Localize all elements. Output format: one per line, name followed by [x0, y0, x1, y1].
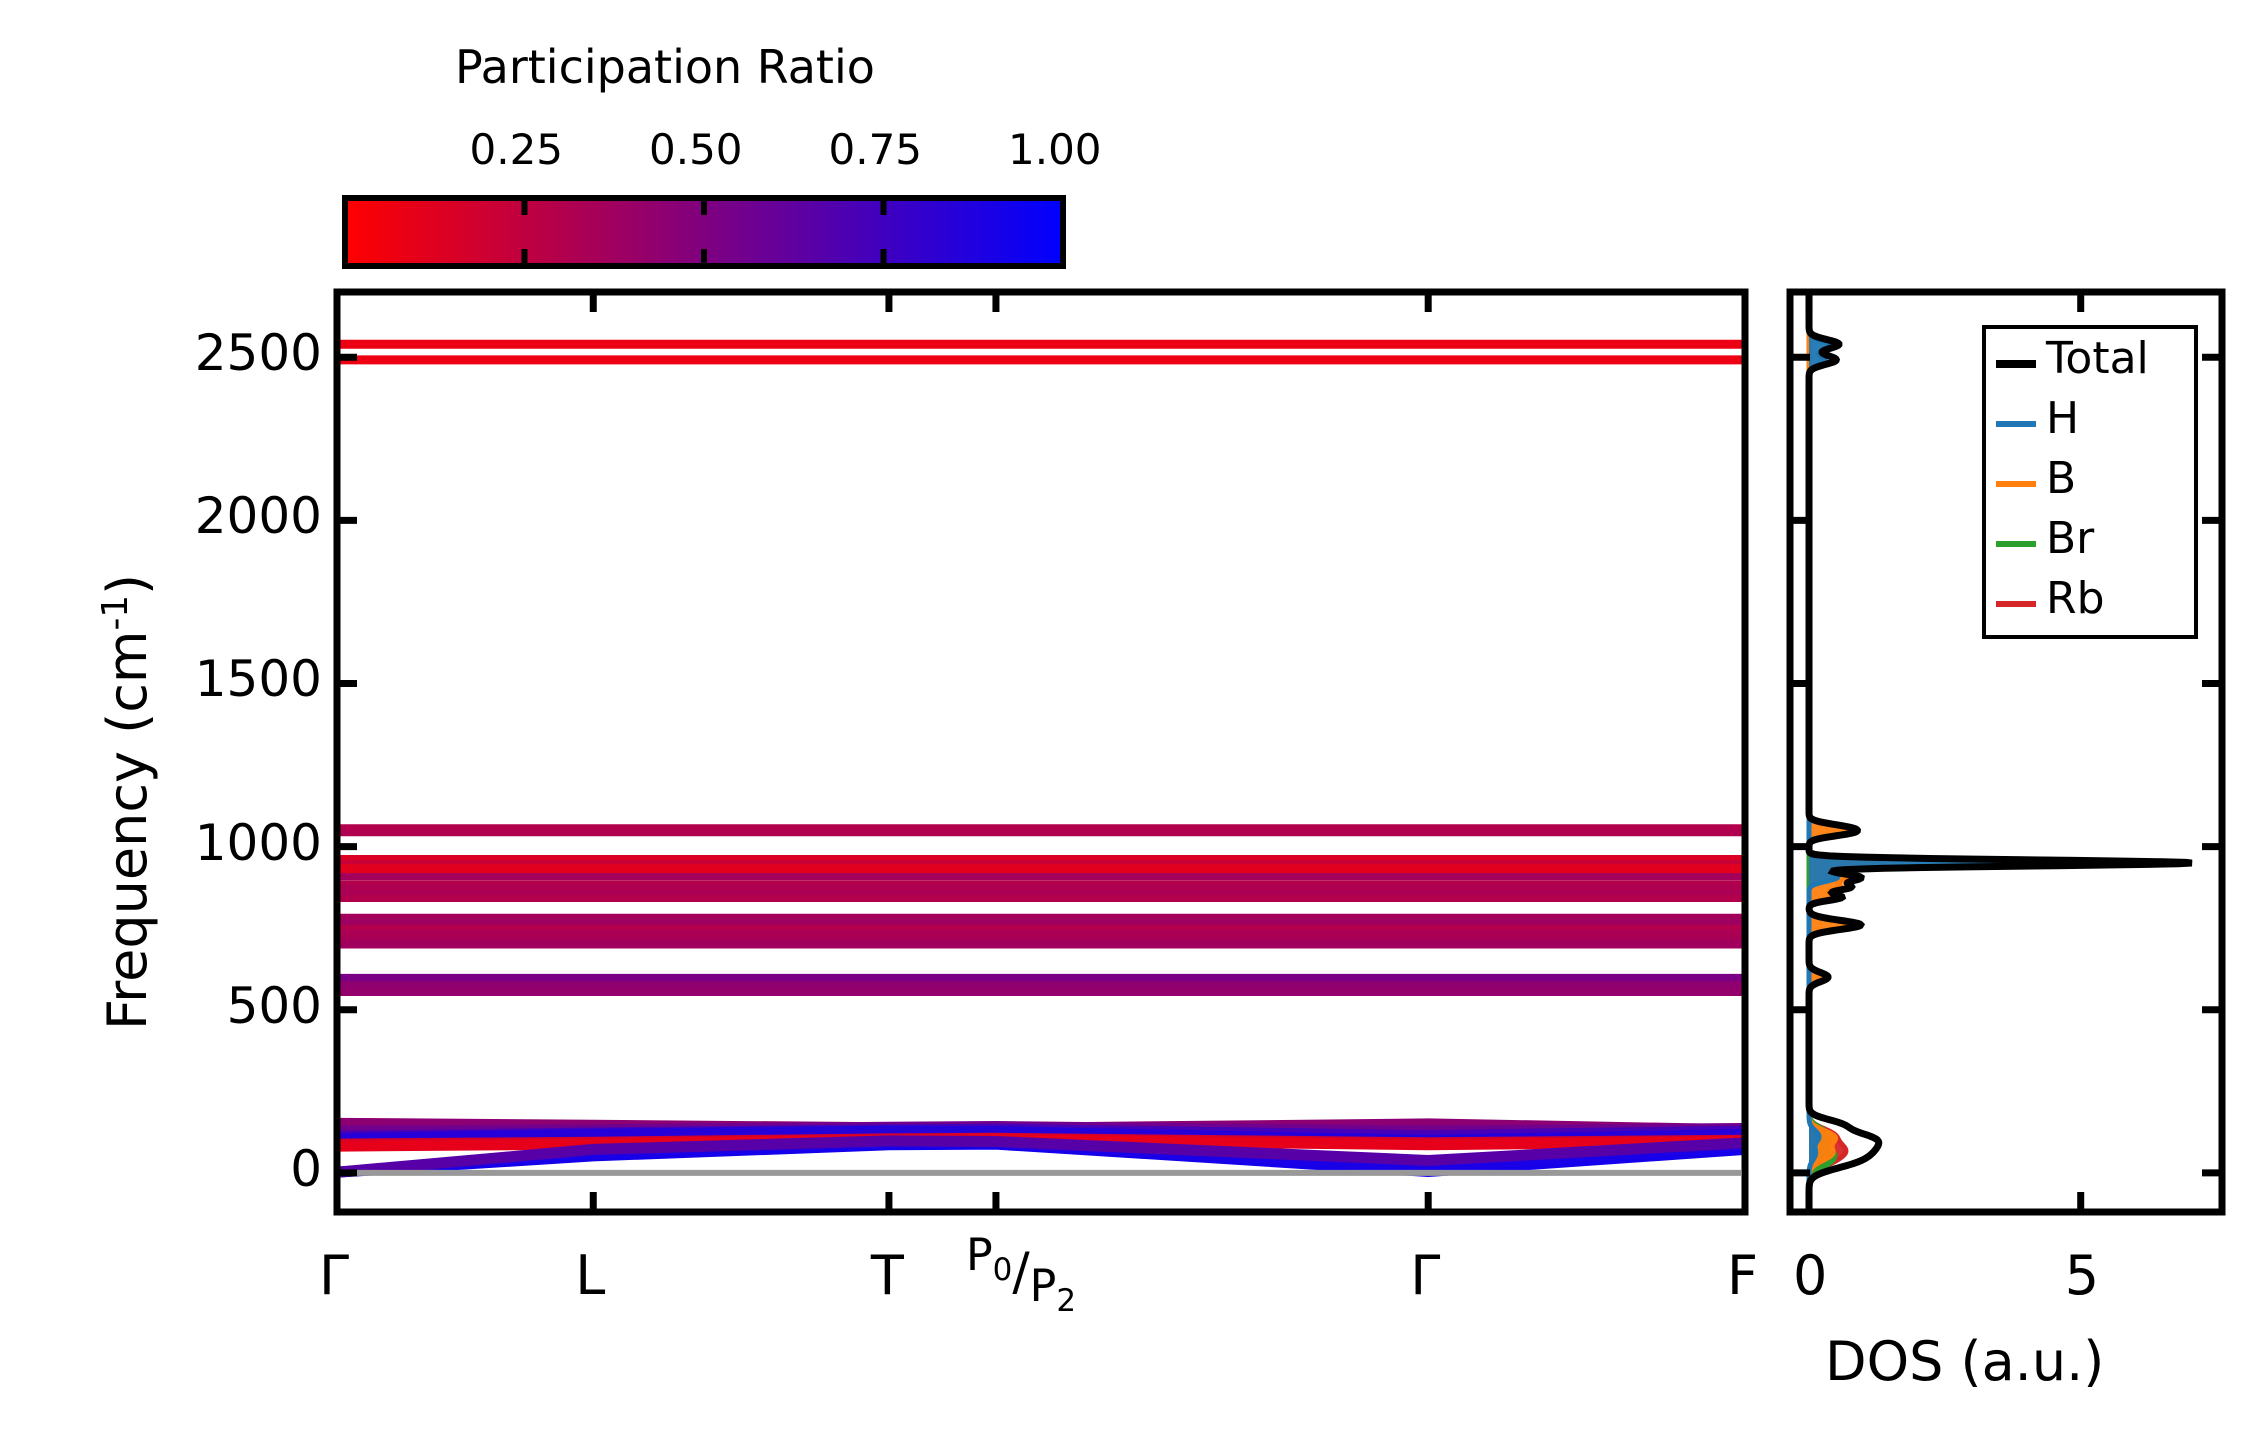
legend-label-Rb: Rb: [2046, 573, 2105, 624]
dos-fill-Rb: [1809, 292, 1846, 1212]
axis-tick-marks: [337, 292, 2222, 1212]
plot-canvas: [0, 0, 2259, 1455]
dos-fill-Br: [1809, 292, 1835, 1212]
legend-label-Total: Total: [2046, 333, 2149, 384]
legend-label-B: B: [2046, 453, 2076, 504]
dos-line-Rb: [1809, 292, 1846, 1212]
phonon-band-dos-figure: Participation Ratio 0.250.500.751.00 Fre…: [0, 0, 2259, 1455]
band-panel-frame: [337, 292, 1745, 1212]
dos-line-Br: [1809, 292, 1835, 1212]
legend-label-H: H: [2046, 393, 2079, 444]
band-structure-curves: [337, 341, 1745, 1172]
legend-label-Br: Br: [2046, 513, 2094, 564]
dos-line-B: [1809, 292, 1882, 1212]
dos-fill-B: [1809, 292, 1882, 1212]
